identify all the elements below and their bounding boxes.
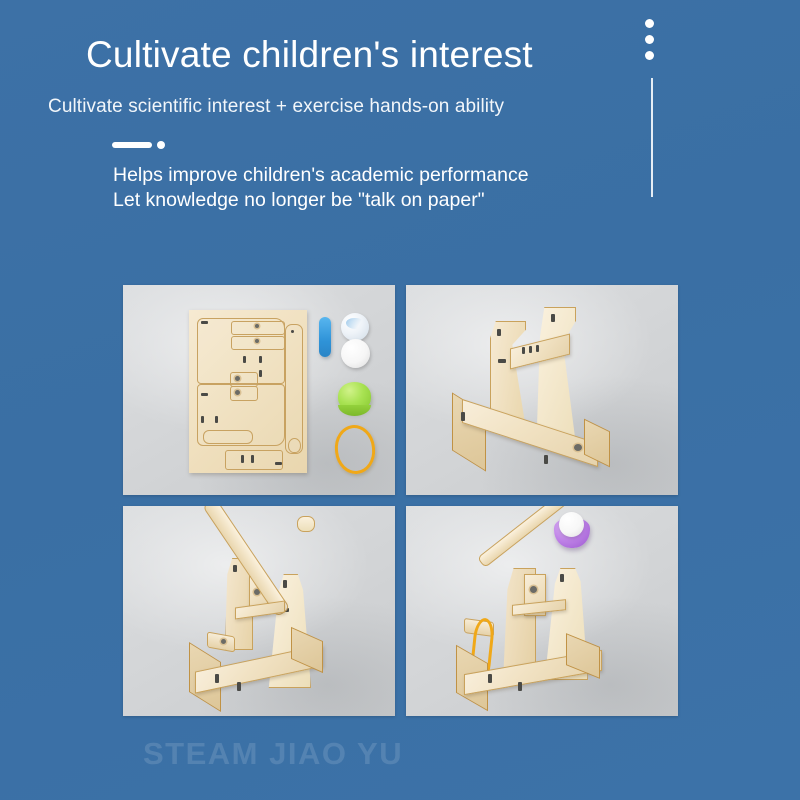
decorative-vertical-rule: [651, 78, 653, 197]
photo-finished-catapult: [406, 506, 678, 716]
dash-dot-marker-icon: [112, 140, 174, 150]
benefit-line-2: Let knowledge no longer be "talk on pape…: [113, 188, 529, 213]
subtitle: Cultivate scientific interest + exercise…: [48, 96, 504, 118]
watermark-text: STEAM JIAO YU: [143, 736, 403, 772]
page-title: Cultivate children's interest: [86, 34, 533, 76]
benefits-text: Helps improve children's academic perfor…: [113, 163, 529, 213]
white-ball: [559, 512, 584, 537]
dash-bar-icon: [112, 142, 152, 148]
white-disc: [341, 339, 370, 368]
plywood-parts-board: [189, 310, 307, 473]
deco-dot-3-icon: [645, 51, 654, 60]
arm-head: [297, 516, 315, 532]
green-cap: [338, 382, 371, 412]
photo-arm-attached: [123, 506, 395, 716]
dash-dot-icon: [157, 141, 165, 149]
deco-dot-2-icon: [645, 35, 654, 44]
photo-assembled-base: [406, 285, 678, 495]
photo-kit-parts: [123, 285, 395, 495]
blue-foam-strip: [319, 317, 331, 357]
deco-dot-1-icon: [645, 19, 654, 28]
decorative-dots-icon: [645, 19, 657, 75]
foil-sealed-disc: [341, 313, 369, 341]
benefit-line-1: Helps improve children's academic perfor…: [113, 163, 529, 188]
product-photo-grid: [123, 285, 678, 716]
promo-banner: Cultivate children's interest Cultivate …: [0, 0, 800, 800]
